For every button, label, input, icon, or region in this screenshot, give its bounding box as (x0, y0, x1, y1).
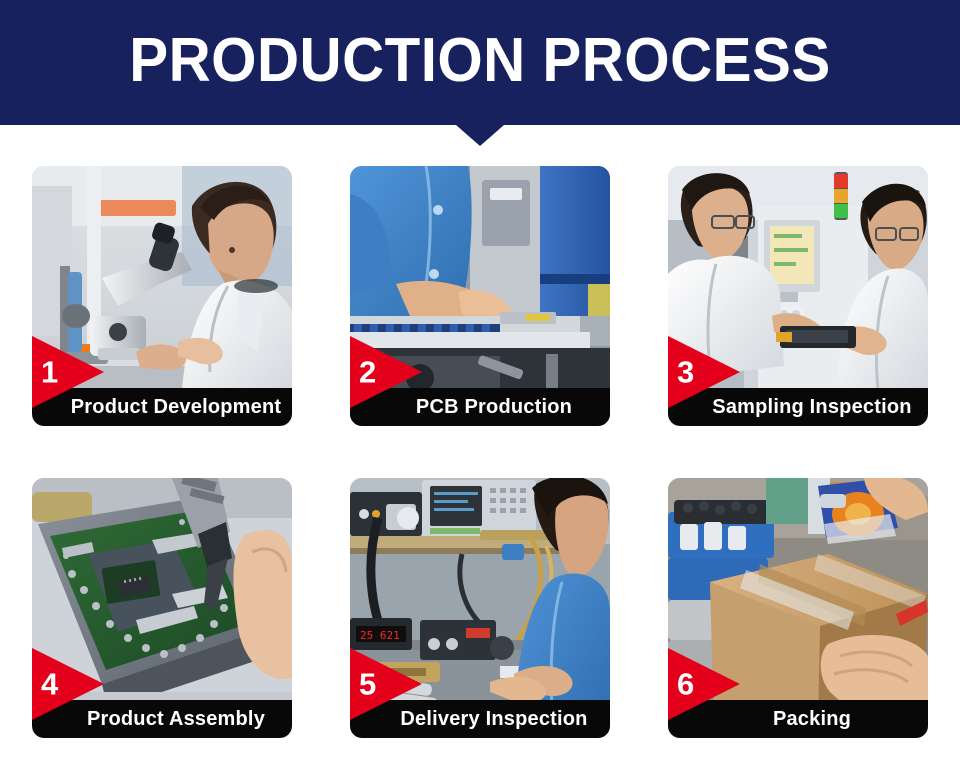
down-triangle-notch-icon (456, 125, 504, 146)
process-step-card[interactable]: Product Assembly 4 (32, 478, 292, 738)
header-banner: PRODUCTION PROCESS (0, 0, 960, 125)
step-number-badge: 3 (668, 336, 740, 408)
step-number: 2 (359, 357, 376, 388)
step-number-badge: 4 (32, 648, 104, 720)
step-number-badge: 6 (668, 648, 740, 720)
step-number: 1 (41, 357, 58, 388)
step-number-badge: 2 (350, 336, 422, 408)
process-step-card[interactable]: Sampling Inspection 3 (668, 166, 928, 426)
step-number: 6 (677, 669, 694, 700)
step-number-badge: 5 (350, 648, 422, 720)
process-step-card[interactable]: Packing 6 (668, 478, 928, 738)
process-steps-grid: Product Development 1 (32, 166, 928, 738)
step-number-badge: 1 (32, 336, 104, 408)
step-number: 3 (677, 357, 694, 388)
process-step-card[interactable]: Product Development 1 (32, 166, 292, 426)
process-step-card[interactable]: 25 621 (350, 478, 610, 738)
process-step-card[interactable]: PCB Production 2 (350, 166, 610, 426)
step-label: Packing (745, 709, 851, 729)
svg-text:25 621: 25 621 (360, 629, 400, 642)
step-number: 5 (359, 669, 376, 700)
step-number: 4 (41, 669, 58, 700)
page-title: PRODUCTION PROCESS (29, 0, 931, 125)
